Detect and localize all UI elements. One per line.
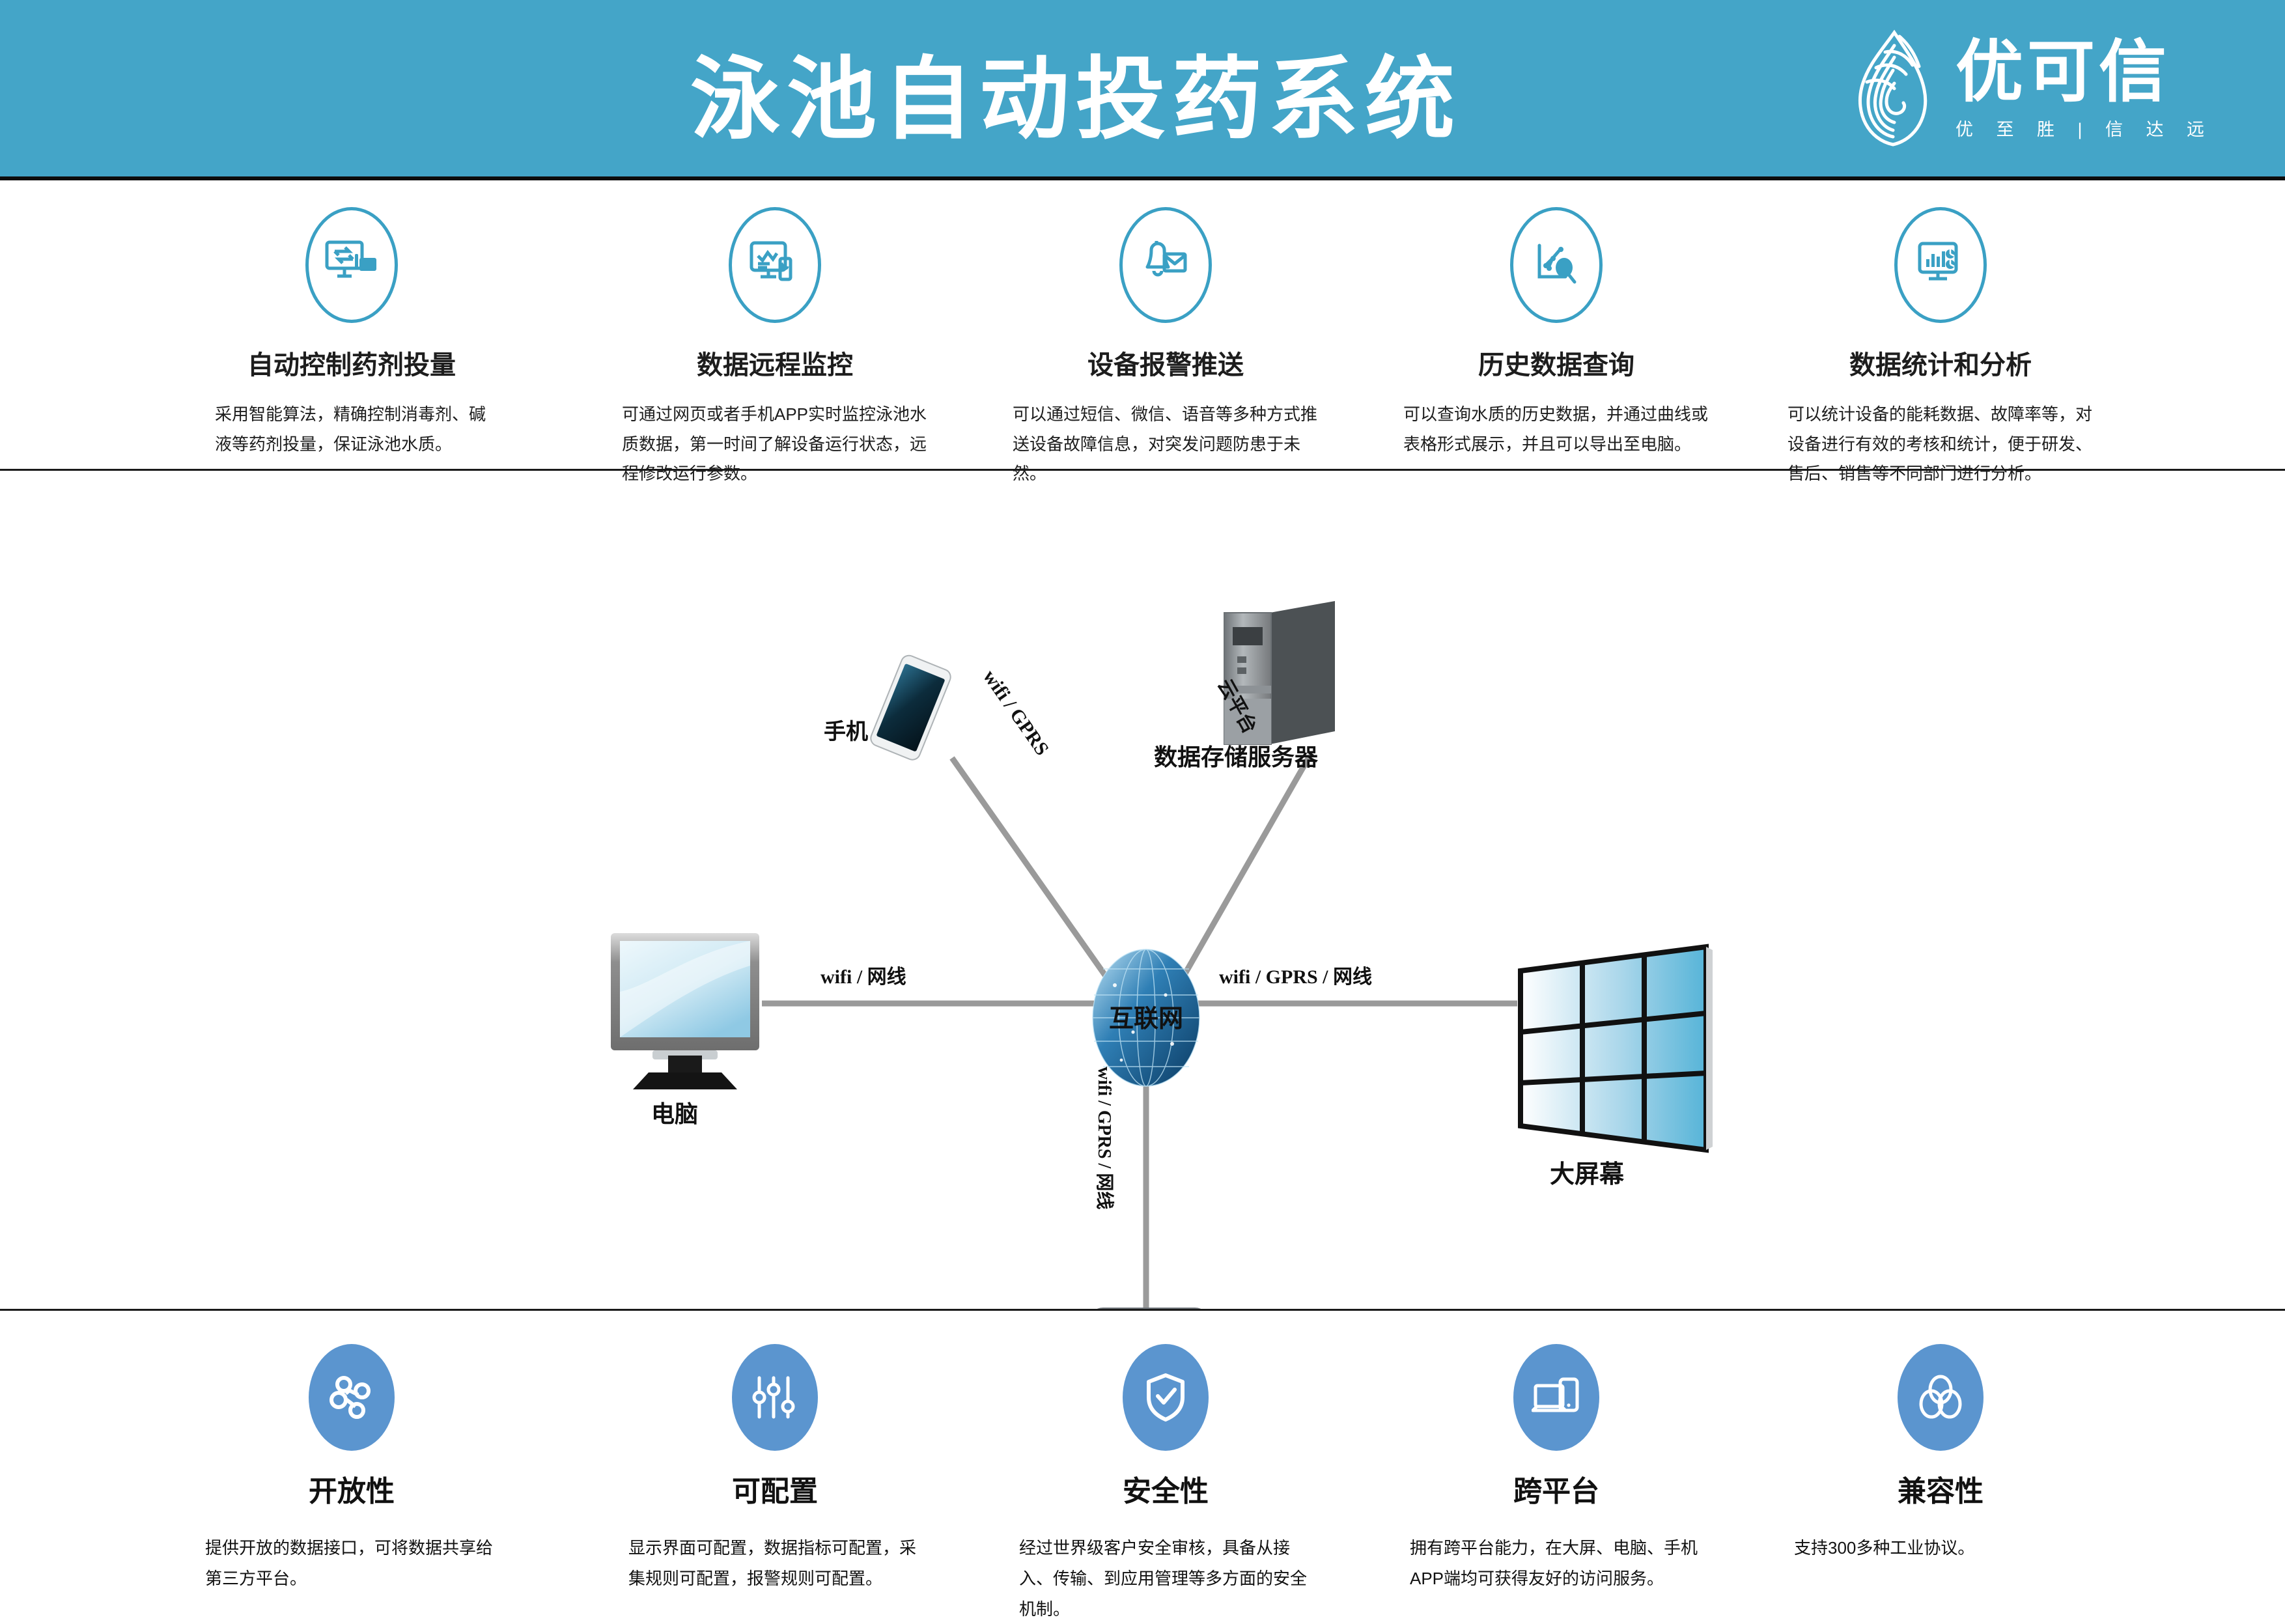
diagram-label-internet: 互联网 bbox=[1109, 1005, 1183, 1033]
benefit-card-cross-platform: 跨平台 拥有跨平台能力，在大屏、电脑、手机APP端均可获得友好的访问服务。 bbox=[1374, 1313, 1739, 1594]
diagram-label-server: 数据存储服务器 bbox=[1154, 744, 1319, 770]
diagram-label-computer: 电脑 bbox=[651, 1100, 698, 1127]
header-bar: 泳池自动投药系统 优可信 优 至 胜 | 信 达 远 bbox=[0, 0, 2285, 180]
internet-globe: 互联网 bbox=[1093, 949, 1199, 1086]
diagram-label-bigscreen: 大屏幕 bbox=[1550, 1161, 1625, 1188]
benefit-desc: 拥有跨平台能力，在大屏、电脑、手机APP端均可获得友好的访问服务。 bbox=[1410, 1533, 1703, 1594]
benefit-title: 开放性 bbox=[169, 1468, 534, 1509]
monitor-bar-pie-icon bbox=[1894, 207, 1987, 323]
devices-icon bbox=[1513, 1344, 1599, 1451]
benefit-desc: 经过世界级客户安全审核，具备从接入、传输、到应用管理等多方面的安全机制。 bbox=[1019, 1533, 1312, 1624]
benefit-card-security: 安全性 经过世界级客户安全审核，具备从接入、传输、到应用管理等多方面的安全机制。 bbox=[983, 1313, 1348, 1624]
benefit-card-compatibility: 兼容性 支持300多种工业协议。 bbox=[1758, 1313, 2123, 1563]
feature-card-stats-analysis: 数据统计和分析 可以统计设备的能耗数据、故障率等，对设备进行有效的考核和统计，便… bbox=[1758, 184, 2123, 489]
computer-device bbox=[611, 933, 759, 1089]
brand-name: 优可信 bbox=[1956, 38, 2213, 106]
bigscreen-device bbox=[1520, 947, 1713, 1150]
feature-title: 自动控制药剂投量 bbox=[169, 344, 534, 382]
feature-card-auto-dosing: 自动控制药剂投量 采用智能算法，精确控制消毒剂、碱液等药剂投量，保证泳池水质。 bbox=[169, 184, 534, 459]
benefit-card-openness: 开放性 提供开放的数据接口，可将数据共享给第三方平台。 bbox=[169, 1313, 534, 1594]
benefit-title: 跨平台 bbox=[1374, 1468, 1739, 1509]
system-diagram: 手机 数据存储服务器 bbox=[0, 471, 2285, 1311]
feature-desc: 采用智能算法，精确控制消毒剂、碱液等药剂投量，保证泳池水质。 bbox=[215, 400, 488, 459]
venn-circles-icon bbox=[1898, 1344, 1984, 1451]
bell-envelope-icon bbox=[1119, 207, 1212, 323]
sliders-icon bbox=[732, 1344, 818, 1451]
feature-title: 数据统计和分析 bbox=[1758, 344, 2123, 382]
benefit-desc: 显示界面可配置，数据指标可配置，采集规则可配置，报警规则可配置。 bbox=[628, 1533, 921, 1594]
diagram-canvas: 手机 数据存储服务器 bbox=[0, 471, 2285, 1311]
benefit-desc: 提供开放的数据接口，可将数据共享给第三方平台。 bbox=[205, 1533, 498, 1594]
link-label-computer-internet: wifi / 网线 bbox=[820, 960, 906, 989]
chart-magnifier-icon bbox=[1510, 207, 1603, 323]
page-title: 泳池自动投药系统 bbox=[690, 26, 1461, 156]
bottom-feature-row: 开放性 提供开放的数据接口，可将数据共享给第三方平台。 可配置 显示界面可配置 bbox=[0, 1313, 2285, 1616]
poster-root: 泳池自动投药系统 优可信 优 至 胜 | 信 达 远 bbox=[0, 0, 2285, 1616]
diagram-label-phone: 手机 bbox=[824, 720, 868, 744]
divider-bottom bbox=[0, 1309, 2285, 1311]
feature-title: 数据远程监控 bbox=[593, 344, 957, 382]
feature-title: 历史数据查询 bbox=[1374, 344, 1739, 382]
shield-check-icon bbox=[1123, 1344, 1209, 1451]
benefit-card-configurable: 可配置 显示界面可配置，数据指标可配置，采集规则可配置，报警规则可配置。 bbox=[593, 1313, 957, 1594]
monitor-chart-phone-icon bbox=[729, 207, 821, 323]
benefit-title: 安全性 bbox=[983, 1468, 1348, 1509]
phone-device bbox=[869, 653, 953, 762]
brand-logo: 优可信 优 至 胜 | 信 达 远 bbox=[1847, 27, 2213, 151]
fingerprint-droplet-icon bbox=[1847, 27, 1939, 151]
link-label-internet-meter: wifi / GPRS / 网线 bbox=[1093, 1067, 1119, 1209]
brand-slogan: 优 至 胜 | 信 达 远 bbox=[1956, 115, 2213, 141]
feature-card-alarm-push: 设备报警推送 可以通过短信、微信、语音等多种方式推送设备故障信息，对突发问题防患… bbox=[983, 184, 1348, 489]
benefit-title: 兼容性 bbox=[1758, 1468, 2123, 1509]
benefit-title: 可配置 bbox=[593, 1468, 957, 1509]
top-feature-row: 自动控制药剂投量 采用智能算法，精确控制消毒剂、碱液等药剂投量，保证泳池水质。 bbox=[0, 184, 2285, 469]
share-nodes-icon bbox=[309, 1344, 395, 1451]
benefit-desc: 支持300多种工业协议。 bbox=[1794, 1533, 2087, 1563]
feature-desc: 可以查询水质的历史数据，并通过曲线或表格形式展示，并且可以导出至电脑。 bbox=[1403, 400, 1709, 459]
feature-card-history-query: 历史数据查询 可以查询水质的历史数据，并通过曲线或表格形式展示，并且可以导出至电… bbox=[1374, 184, 1739, 459]
link-label-internet-bigscreen: wifi / GPRS / 网线 bbox=[1219, 960, 1372, 989]
monitor-exchange-icon bbox=[305, 207, 398, 323]
feature-card-remote-monitor: 数据远程监控 可通过网页或者手机APP实时监控泳池水质数据，第一时间了解设备运行… bbox=[593, 184, 957, 489]
feature-title: 设备报警推送 bbox=[983, 344, 1348, 382]
